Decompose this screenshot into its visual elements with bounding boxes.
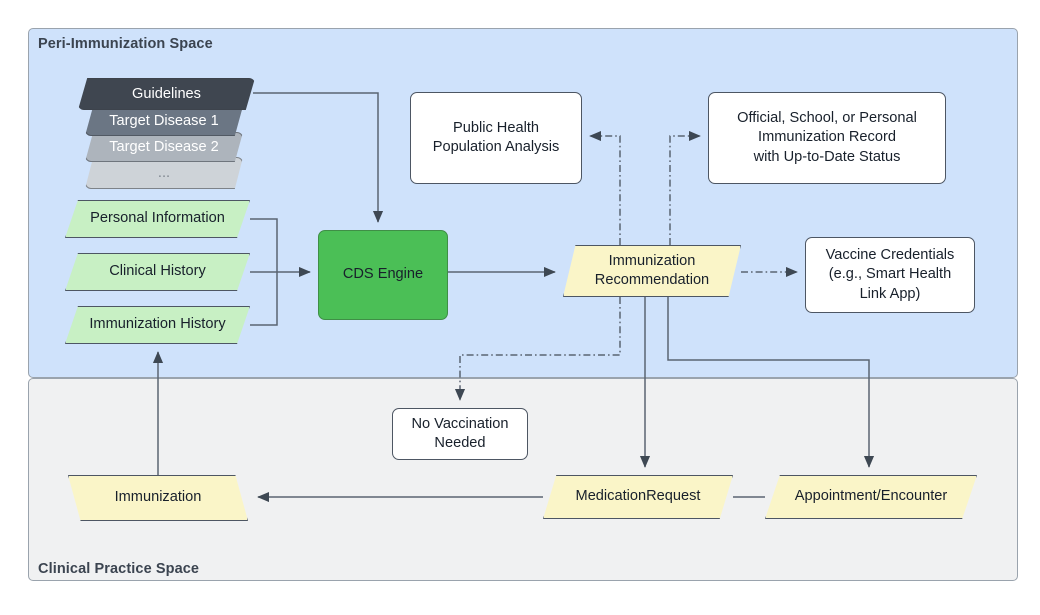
node-immunization-recommendation-line2: Recommendation xyxy=(595,271,709,290)
node-immunization-record-line1: Official, School, or Personal xyxy=(737,109,917,128)
node-public-health-population-analysis[interactable]: Public Health Population Analysis xyxy=(410,92,582,184)
node-clinical-history[interactable]: Clinical History xyxy=(65,253,250,291)
node-personal-information[interactable]: Personal Information xyxy=(65,200,250,238)
node-immunization[interactable]: Immunization xyxy=(68,475,248,521)
node-vaccine-credentials[interactable]: Vaccine Credentials (e.g., Smart Health … xyxy=(805,237,975,313)
node-vaccine-credentials-line3: Link App) xyxy=(826,285,955,304)
node-no-vaccination-needed[interactable]: No Vaccination Needed xyxy=(392,408,528,460)
node-no-vaccination-line2: Needed xyxy=(411,434,508,453)
node-immunization-label: Immunization xyxy=(115,488,202,507)
region-clinical-label: Clinical Practice Space xyxy=(38,561,199,577)
node-no-vaccination-line1: No Vaccination xyxy=(411,415,508,434)
region-peri-label: Peri-Immunization Space xyxy=(38,36,213,52)
node-medication-request[interactable]: MedicationRequest xyxy=(543,475,733,519)
node-cds-engine[interactable]: CDS Engine xyxy=(318,230,448,320)
node-public-health-line2: Population Analysis xyxy=(433,138,560,157)
node-immunization-record-line3: with Up-to-Date Status xyxy=(737,148,917,167)
node-vaccine-credentials-line1: Vaccine Credentials xyxy=(826,246,955,265)
guideline-card-target-disease-2[interactable]: Target Disease 2 xyxy=(85,132,243,162)
node-appointment-encounter[interactable]: Appointment/Encounter xyxy=(765,475,977,519)
node-immunization-history-label: Immunization History xyxy=(89,315,225,334)
guideline-card-guidelines[interactable]: Guidelines xyxy=(78,78,255,110)
node-medication-request-label: MedicationRequest xyxy=(576,487,701,506)
node-vaccine-credentials-line2: (e.g., Smart Health xyxy=(826,265,955,284)
node-personal-information-label: Personal Information xyxy=(90,209,225,228)
node-immunization-record-line2: Immunization Record xyxy=(737,128,917,147)
node-immunization-record[interactable]: Official, School, or Personal Immunizati… xyxy=(708,92,946,184)
node-immunization-recommendation-line1: Immunization xyxy=(595,252,709,271)
node-cds-engine-label: CDS Engine xyxy=(343,265,423,284)
guideline-card-target-disease-1[interactable]: Target Disease 1 xyxy=(85,106,243,136)
node-appointment-encounter-label: Appointment/Encounter xyxy=(795,487,948,506)
node-clinical-history-label: Clinical History xyxy=(109,262,206,281)
node-public-health-line1: Public Health xyxy=(433,119,560,138)
node-immunization-recommendation[interactable]: Immunization Recommendation xyxy=(563,245,741,297)
node-immunization-history[interactable]: Immunization History xyxy=(65,306,250,344)
diagram-canvas: Peri-Immunization Space Clinical Practic… xyxy=(0,0,1040,615)
